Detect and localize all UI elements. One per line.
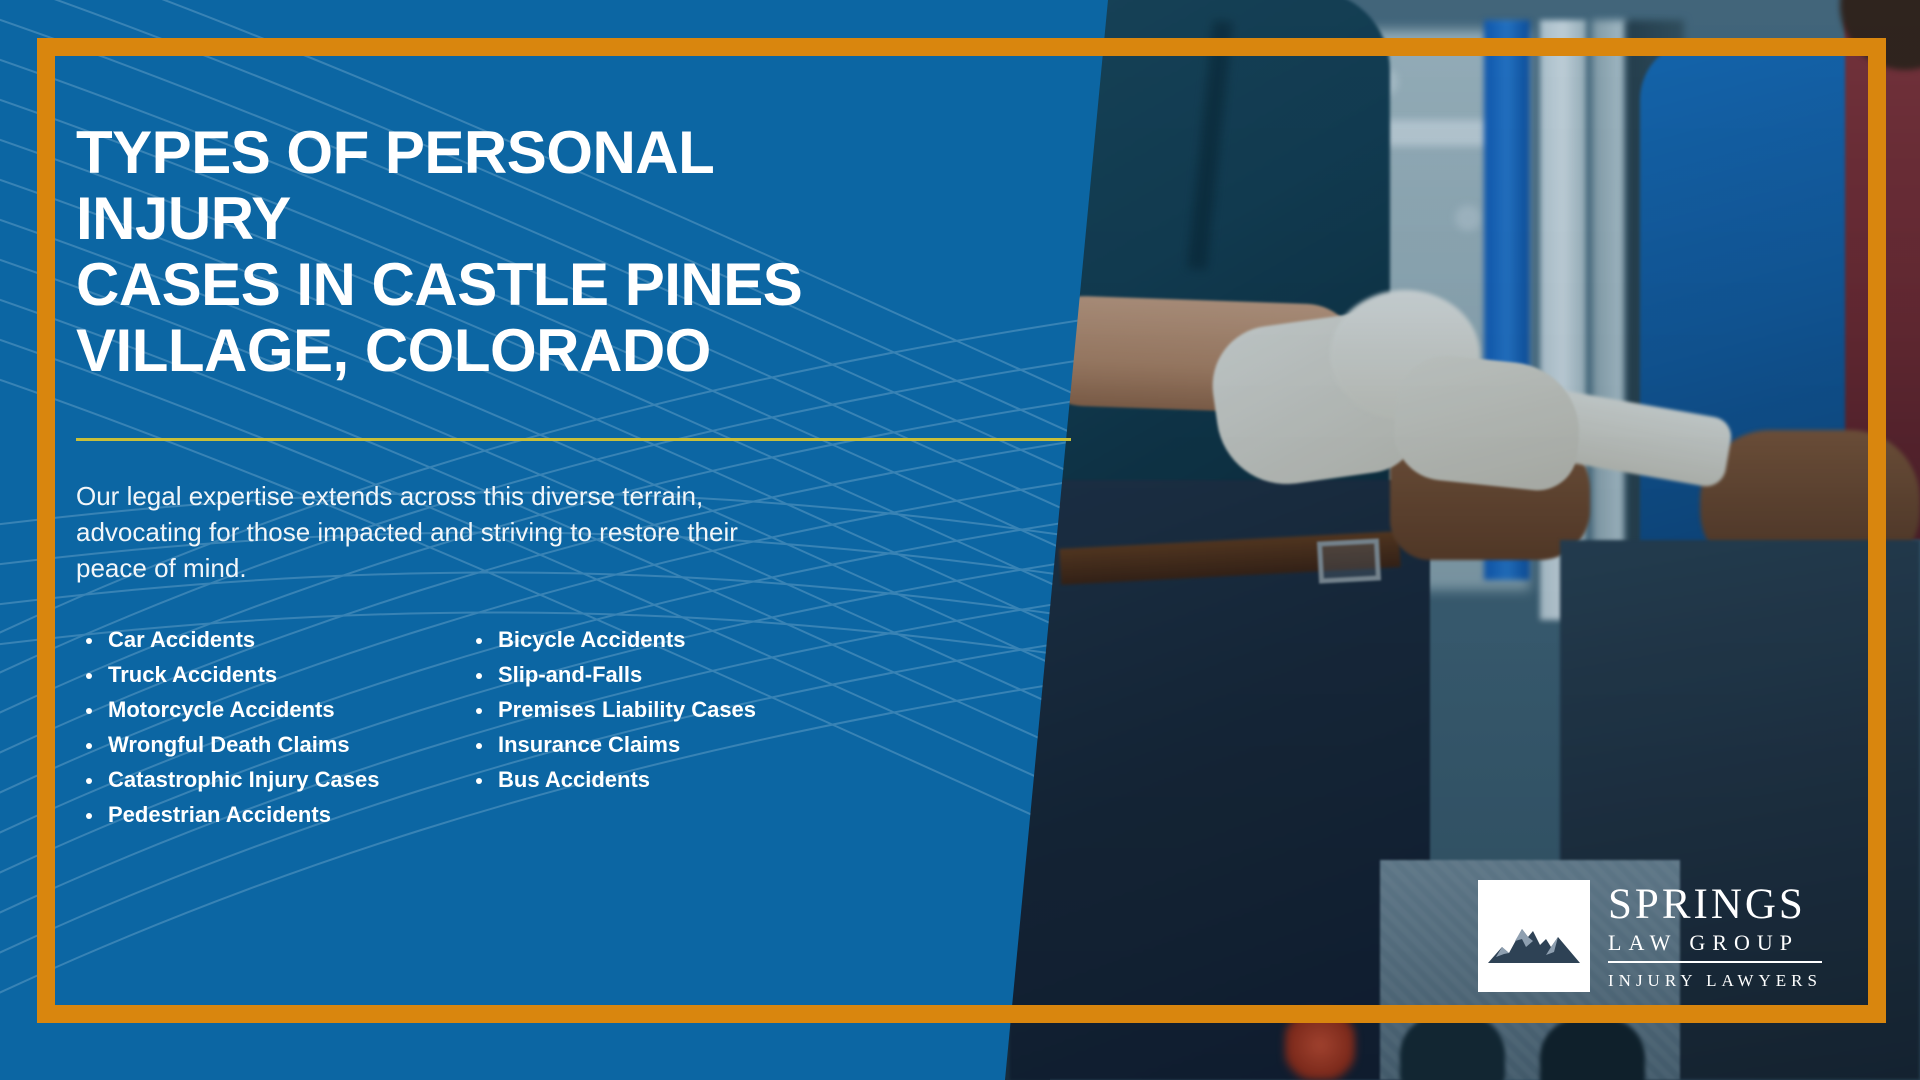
list-item: Motorcycle Accidents <box>76 699 466 721</box>
case-list-left-column: Car Accidents Truck Accidents Motorcycle… <box>76 629 466 839</box>
list-item: Slip-and-Falls <box>466 664 856 686</box>
list-item: Bus Accidents <box>466 769 856 791</box>
page-title: TYPES OF PERSONAL INJURY CASES IN CASTLE… <box>76 120 906 384</box>
slide-canvas: TYPES OF PERSONAL INJURY CASES IN CASTLE… <box>0 0 1920 1080</box>
list-item: Car Accidents <box>76 629 466 651</box>
logo-tagline: INJURY LAWYERS <box>1608 972 1822 989</box>
list-item: Bicycle Accidents <box>466 629 856 651</box>
list-item: Truck Accidents <box>76 664 466 686</box>
list-item: Catastrophic Injury Cases <box>76 769 466 791</box>
list-item: Insurance Claims <box>466 734 856 756</box>
brand-logo: SPRINGS LAW GROUP INJURY LAWYERS <box>1478 880 1822 992</box>
list-item: Wrongful Death Claims <box>76 734 466 756</box>
list-item: Premises Liability Cases <box>466 699 856 721</box>
logo-practice: LAW GROUP <box>1608 932 1822 963</box>
logo-wordmark: SPRINGS LAW GROUP INJURY LAWYERS <box>1608 883 1822 989</box>
slide-content: TYPES OF PERSONAL INJURY CASES IN CASTLE… <box>76 120 906 839</box>
intro-paragraph: Our legal expertise extends across this … <box>76 479 776 587</box>
logo-name: SPRINGS <box>1608 883 1822 926</box>
gold-divider <box>76 438 1071 441</box>
mountain-icon <box>1488 907 1580 965</box>
case-list-right-column: Bicycle Accidents Slip-and-Falls Premise… <box>466 629 856 839</box>
case-types-list: Car Accidents Truck Accidents Motorcycle… <box>76 629 906 839</box>
logo-mark-tile <box>1478 880 1590 992</box>
list-item: Pedestrian Accidents <box>76 804 466 826</box>
